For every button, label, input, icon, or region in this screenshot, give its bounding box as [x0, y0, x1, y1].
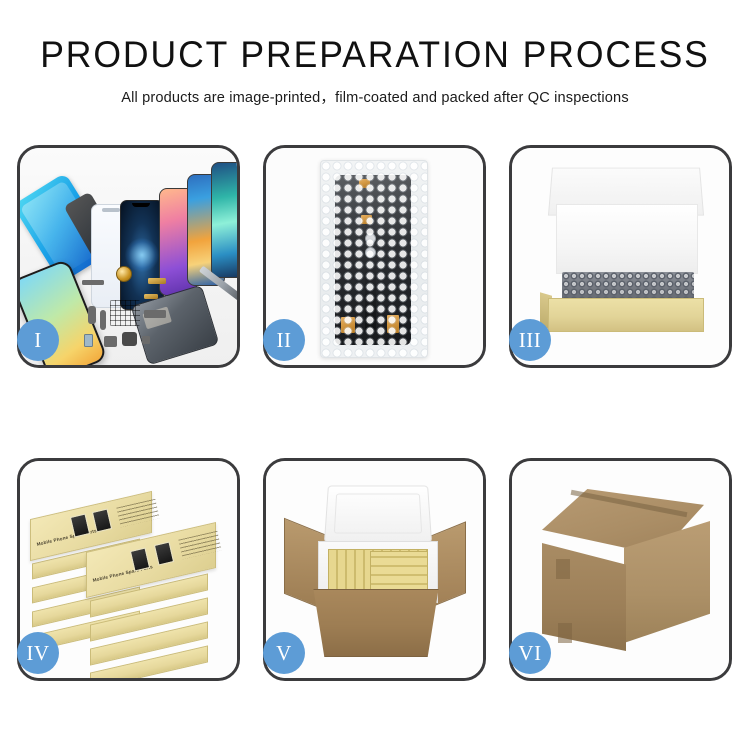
page-title: PRODUCT PREPARATION PROCESS	[15, 36, 735, 75]
yellow-boxes-row-2	[370, 551, 428, 593]
carton-tab-bottom	[558, 623, 572, 643]
panel-badge-4: IV	[17, 632, 59, 674]
part-camera-icon	[84, 334, 93, 347]
process-panel-grid: I II	[17, 145, 733, 690]
panel-badge-6: VI	[509, 632, 551, 674]
foam-cooler-lid-icon	[324, 486, 432, 543]
part-strip-3	[100, 310, 106, 330]
panel-badge-5: V	[263, 632, 305, 674]
part-strip-2	[88, 306, 96, 324]
page-subtitle: All products are image-printed，film-coat…	[0, 86, 750, 107]
logic-board-icon	[110, 300, 140, 326]
bubble-bag	[320, 160, 428, 358]
part-gold-2	[144, 294, 158, 299]
panel-badge-1: I	[17, 319, 59, 361]
box-stack: Mobile Phone Spare Parts Mobile Phone Sp…	[24, 479, 237, 669]
panel-bubble-wrapped-screen[interactable]: II	[263, 145, 486, 368]
page-header: PRODUCT PREPARATION PROCESS All products…	[0, 0, 750, 107]
teal-phone-display-icon	[211, 162, 237, 278]
part-strip-6	[122, 332, 137, 346]
panel-badge-2: II	[263, 319, 305, 361]
panel-badge-3: III	[509, 319, 551, 361]
panel-phone-parts[interactable]: I	[17, 145, 240, 368]
carton-tab-top	[556, 559, 570, 579]
carton-body	[308, 589, 444, 657]
part-strip-5	[104, 336, 117, 347]
panel-open-inner-box[interactable]: III	[509, 145, 732, 368]
foam-sheet-icon	[556, 204, 698, 274]
bubble-texture	[321, 161, 427, 357]
box-base-icon	[548, 298, 704, 332]
panel-foam-carton[interactable]: V	[263, 458, 486, 681]
carton-front-face	[542, 543, 626, 651]
speaker-mesh-icon	[116, 266, 132, 282]
part-strip-7	[142, 336, 150, 344]
small-parts-cluster	[82, 266, 206, 365]
panel-sealed-carton[interactable]: VI	[509, 458, 732, 681]
part-strip-1	[82, 280, 104, 285]
part-gold-1	[148, 278, 166, 284]
part-strip-4	[144, 310, 166, 318]
panel-stacked-boxes[interactable]: Mobile Phone Spare Parts Mobile Phone Sp…	[17, 458, 240, 681]
